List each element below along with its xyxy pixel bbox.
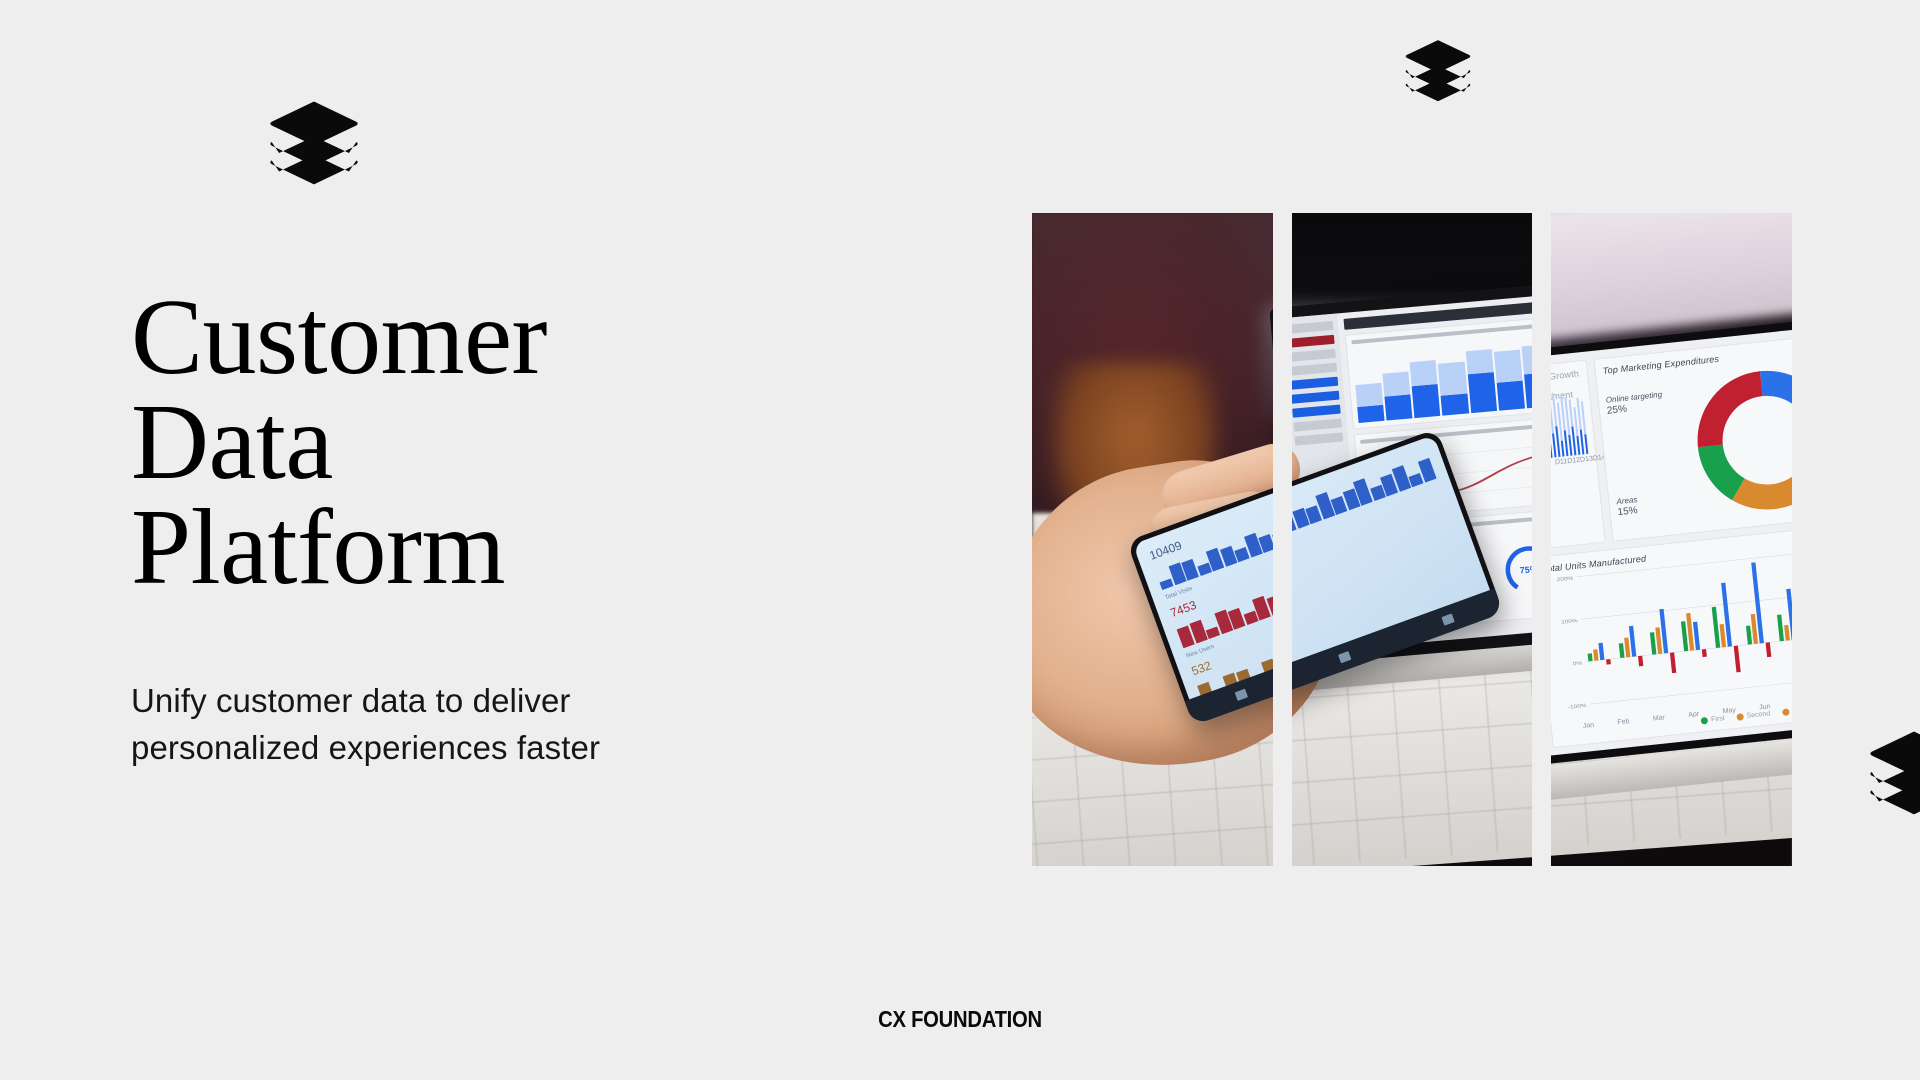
axis-tick: D11 bbox=[1555, 458, 1568, 466]
units-manufactured-card: Total Units Manufactured Total Units Var… bbox=[1551, 515, 1792, 749]
donut-label-online-targeting: Online targeting 25% bbox=[1606, 390, 1665, 418]
sidebar-item-active bbox=[1292, 335, 1335, 348]
grid-icon bbox=[1234, 688, 1247, 700]
bar bbox=[1467, 372, 1496, 414]
bar bbox=[1441, 393, 1469, 415]
sidebar-item bbox=[1292, 349, 1336, 362]
sidebar-item bbox=[1292, 377, 1338, 390]
axis-tick: Jan bbox=[1583, 722, 1595, 730]
sidebar-item bbox=[1294, 432, 1343, 445]
sidebar-item bbox=[1292, 363, 1337, 376]
svg-text:-100%: -100% bbox=[1568, 703, 1587, 710]
bar bbox=[1585, 434, 1589, 454]
chart-icon bbox=[1337, 651, 1350, 663]
footer-wordmark: CX FOUNDATION bbox=[115, 1006, 1805, 1033]
laptop-screen: Client Growth by Department D11D12D13D14… bbox=[1551, 316, 1792, 756]
bar bbox=[1206, 626, 1220, 638]
bar bbox=[1412, 384, 1441, 418]
slide-canvas: Customer Data Platform Unify customer da… bbox=[0, 0, 1920, 1080]
bar bbox=[1197, 563, 1212, 577]
dashboard-top-row: Client Growth by Department D11D12D13D14… bbox=[1551, 325, 1792, 551]
stacked-layers-logo-icon bbox=[268, 96, 360, 188]
photo-scene: Client Growth by Department D11D12D13D14… bbox=[1551, 213, 1791, 866]
axis-tick: Mar bbox=[1653, 714, 1666, 722]
page-title: Customer Data Platform bbox=[131, 286, 851, 600]
hero-subhead: Unify customer data to deliver personali… bbox=[131, 678, 851, 772]
stacked-layers-logo-icon-top-right bbox=[1404, 36, 1472, 104]
bar bbox=[1496, 381, 1524, 411]
phone-bar-chart-blue bbox=[1292, 454, 1437, 580]
photo-scene: 45%75%39%49% bbox=[1292, 213, 1533, 866]
gallery-panel-marketing-dashboard: Client Growth by Department D11D12D13D14… bbox=[1551, 213, 1792, 866]
axis-tick: May bbox=[1723, 707, 1737, 715]
bar bbox=[1160, 579, 1174, 591]
laptop-closeup: Client Growth by Department D11D12D13D14… bbox=[1551, 228, 1792, 831]
department-bar-chart bbox=[1551, 402, 1588, 460]
axis-tick: D13 bbox=[1580, 455, 1594, 463]
sidebar-item bbox=[1292, 391, 1340, 404]
gallery-panel-laptop: 45%75%39%49% bbox=[1292, 213, 1533, 866]
axis-tick: Feb bbox=[1617, 718, 1630, 726]
svg-text:0%: 0% bbox=[1573, 661, 1583, 667]
gauge-europe: 75% bbox=[1498, 539, 1532, 600]
legend-item: First bbox=[1701, 715, 1725, 724]
sidebar-item bbox=[1292, 405, 1341, 418]
donut-chart: Conversions 25% Acquisition 35% Areas bbox=[1604, 343, 1792, 533]
donut-label-areas: Areas 15% bbox=[1616, 495, 1639, 520]
marketing-donut-card: Top Marketing Expenditures This Quarter … bbox=[1594, 325, 1792, 542]
bar bbox=[1384, 395, 1412, 421]
sidebar-item bbox=[1293, 419, 1342, 432]
bar bbox=[1408, 473, 1423, 487]
bar bbox=[1357, 405, 1384, 423]
hero-copy: Customer Data Platform Unify customer da… bbox=[131, 286, 851, 772]
bar bbox=[1524, 372, 1533, 408]
image-triptych: 45%75%39%49% 10409 Total Visits 7453 bbox=[1032, 213, 1792, 866]
legend-item: Third bbox=[1782, 706, 1792, 716]
axis-tick: D12 bbox=[1567, 457, 1581, 465]
sidebar-item bbox=[1292, 321, 1333, 334]
svg-text:100%: 100% bbox=[1561, 619, 1578, 626]
svg-text:200%: 200% bbox=[1557, 576, 1574, 583]
axis-tick-labels: D11D12D13D14D15 bbox=[1551, 454, 1589, 469]
settings-icon bbox=[1440, 613, 1453, 625]
stacked-layers-logo-icon-edge bbox=[1868, 726, 1920, 818]
gallery-panel-phone: 45%75%39%49% 10409 Total Visits 7453 bbox=[1032, 213, 1273, 866]
axis-tick: Apr bbox=[1688, 711, 1700, 719]
photo-scene: 45%75%39%49% 10409 Total Visits 7453 bbox=[1032, 213, 1273, 866]
